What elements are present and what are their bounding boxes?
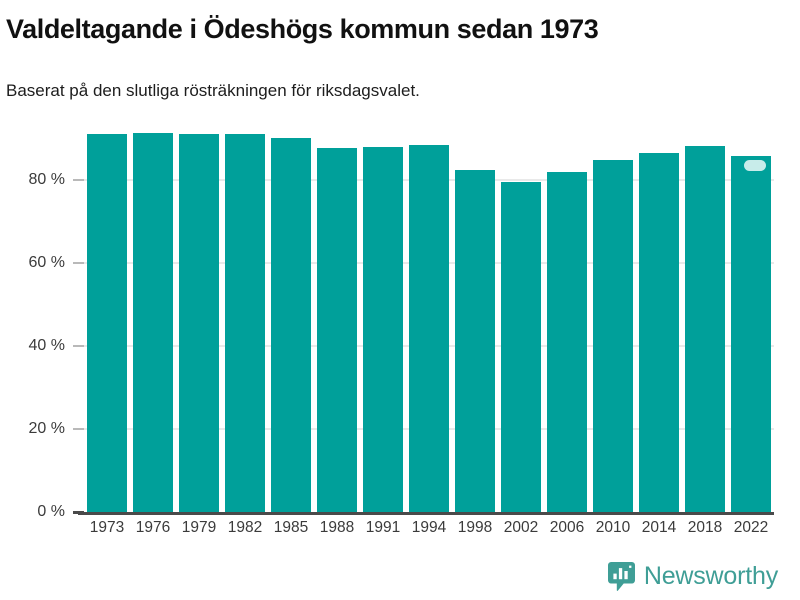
x-axis-tick-label: 2006 bbox=[544, 516, 590, 540]
x-axis-tick-label: 2022 bbox=[728, 516, 774, 540]
x-axis-tick-label: 1988 bbox=[314, 516, 360, 540]
y-axis-tick: 0 % bbox=[37, 502, 84, 522]
y-axis-tick-label: 20 % bbox=[29, 419, 73, 439]
x-axis-tick-label: 1976 bbox=[130, 516, 176, 540]
bar[interactable] bbox=[179, 134, 218, 512]
bar[interactable] bbox=[685, 146, 724, 512]
y-axis-tick: 40 % bbox=[29, 336, 84, 356]
y-axis: 0 %20 %40 %60 %80 % bbox=[0, 128, 84, 512]
bar[interactable] bbox=[87, 134, 126, 512]
bar[interactable] bbox=[409, 145, 448, 512]
y-axis-tick-mark bbox=[73, 345, 84, 347]
x-axis-tick-label: 1982 bbox=[222, 516, 268, 540]
x-axis: 1973197619791982198519881991199419982002… bbox=[84, 516, 774, 542]
bar-series bbox=[84, 128, 774, 512]
chart-subtitle: Baserat på den slutliga rösträkningen fö… bbox=[6, 80, 786, 102]
x-axis-tick-label: 1994 bbox=[406, 516, 452, 540]
x-axis-tick-label: 2018 bbox=[682, 516, 728, 540]
bar[interactable] bbox=[225, 134, 264, 512]
bar[interactable] bbox=[455, 170, 494, 512]
bar[interactable] bbox=[133, 133, 172, 512]
bar[interactable] bbox=[639, 153, 678, 513]
bar-chart-speech-bubble-icon bbox=[608, 562, 635, 591]
x-axis-tick-label: 2002 bbox=[498, 516, 544, 540]
x-axis-tick-label: 1991 bbox=[360, 516, 406, 540]
y-axis-tick-label: 80 % bbox=[29, 170, 73, 190]
chart-root: Valdeltagande i Ödeshögs kommun sedan 19… bbox=[0, 0, 800, 600]
x-axis-tick-label: 1979 bbox=[176, 516, 222, 540]
x-axis-tick-label: 2014 bbox=[636, 516, 682, 540]
y-axis-tick: 20 % bbox=[29, 419, 84, 439]
x-axis-tick-label: 1973 bbox=[84, 516, 130, 540]
y-axis-tick-mark bbox=[73, 428, 84, 430]
bar[interactable] bbox=[731, 156, 770, 512]
bar[interactable] bbox=[271, 138, 310, 512]
axis-baseline bbox=[78, 512, 774, 515]
chart-title: Valdeltagande i Ödeshögs kommun sedan 19… bbox=[6, 12, 786, 46]
y-axis-tick-label: 40 % bbox=[29, 336, 73, 356]
x-axis-tick-label: 1985 bbox=[268, 516, 314, 540]
y-axis-tick-label: 60 % bbox=[29, 253, 73, 273]
y-axis-tick: 60 % bbox=[29, 253, 84, 273]
chart-footer: Newsworthy bbox=[0, 560, 800, 600]
newsworthy-brand: Newsworthy bbox=[608, 562, 778, 591]
brand-name: Newsworthy bbox=[644, 563, 778, 590]
y-axis-tick-mark bbox=[73, 179, 84, 181]
bar[interactable] bbox=[317, 148, 356, 512]
y-axis-tick-label: 0 % bbox=[37, 502, 73, 522]
y-axis-tick-mark bbox=[73, 262, 84, 264]
highlight-marker bbox=[744, 160, 766, 171]
plot-area bbox=[84, 128, 774, 512]
bar[interactable] bbox=[501, 182, 540, 512]
x-axis-tick-label: 2010 bbox=[590, 516, 636, 540]
x-axis-tick-label: 1998 bbox=[452, 516, 498, 540]
y-axis-tick: 80 % bbox=[29, 170, 84, 190]
bar[interactable] bbox=[547, 172, 586, 512]
bar[interactable] bbox=[593, 160, 632, 512]
bar[interactable] bbox=[363, 147, 402, 512]
